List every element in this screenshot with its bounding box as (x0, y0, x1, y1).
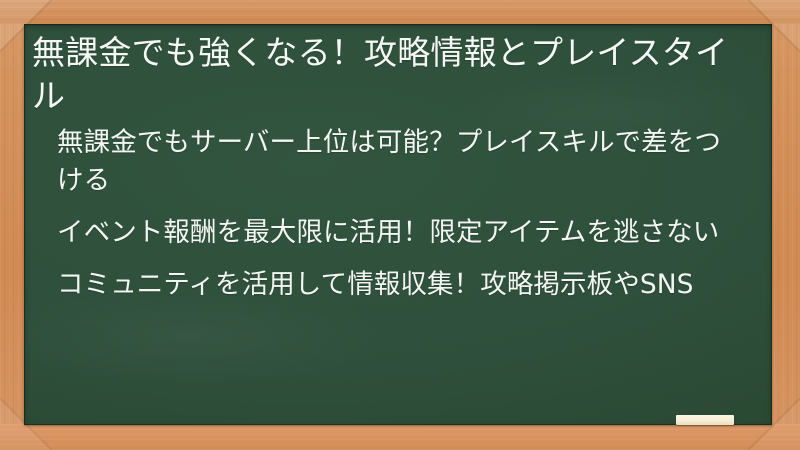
chalk-stick (676, 415, 734, 425)
blackboard-wooden-frame: 無課金でも強くなる！攻略情報とプレイスタイル 無課金でもサーバー上位は可能？プレ… (0, 0, 800, 450)
frame-bottom-ledge (0, 424, 800, 450)
chalkboard-content: 無課金でも強くなる！攻略情報とプレイスタイル 無課金でもサーバー上位は可能？プレ… (24, 24, 772, 304)
page-title: 無課金でも強くなる！攻略情報とプレイスタイル (32, 32, 732, 118)
topic-list: 無課金でもサーバー上位は可能？プレイスキルで差をつける イベント報酬を最大限に活… (32, 124, 756, 305)
list-item: コミュニティを活用して情報収集！攻略掲示板やSNS (32, 266, 729, 304)
chalkboard-surface: 無課金でも強くなる！攻略情報とプレイスタイル 無課金でもサーバー上位は可能？プレ… (24, 24, 772, 425)
frame-top-rail (0, 0, 800, 24)
list-item: イベント報酬を最大限に活用！限定アイテムを逃さない (32, 214, 729, 252)
list-item: 無課金でもサーバー上位は可能？プレイスキルで差をつける (32, 124, 729, 200)
